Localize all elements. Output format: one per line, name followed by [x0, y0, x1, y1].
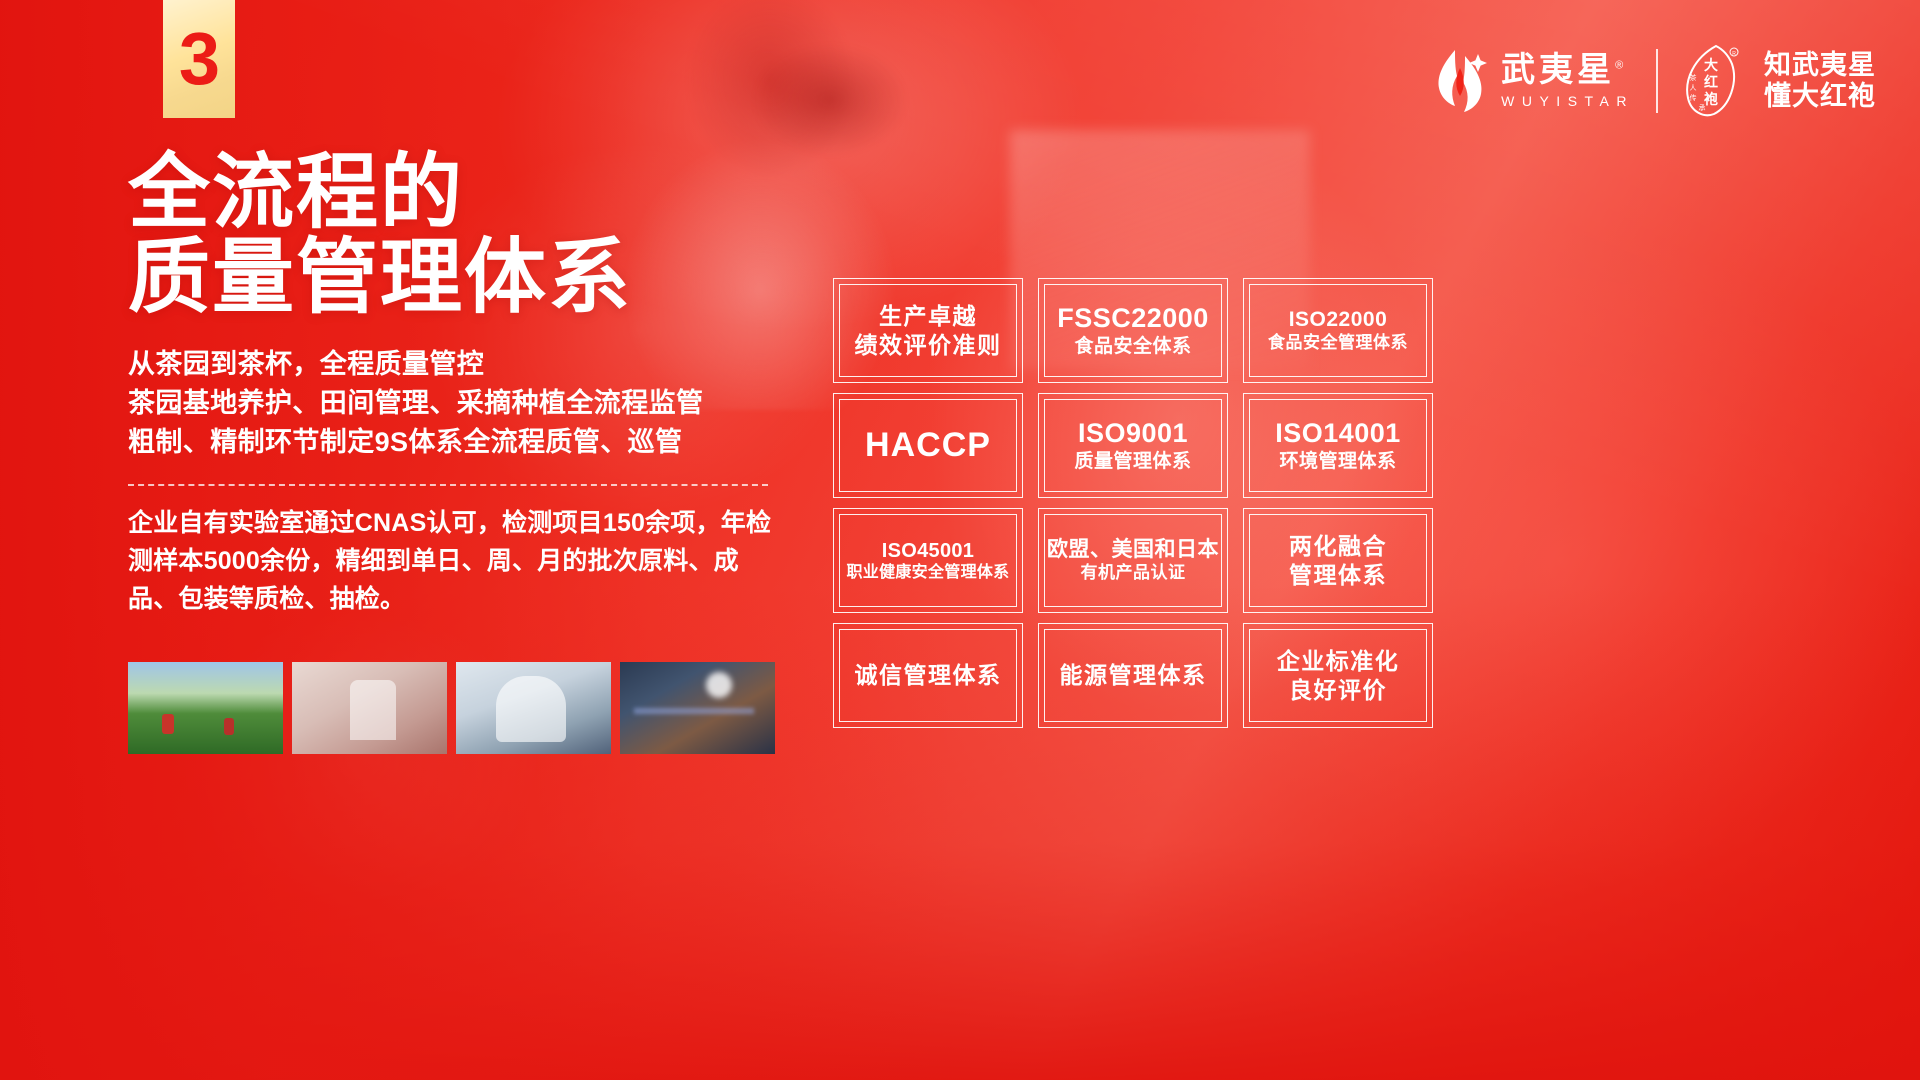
certification-subtitle: 良好评价: [1277, 676, 1400, 704]
brand-name-cn: 武夷星®: [1501, 53, 1627, 88]
section-number-badge: 3: [163, 0, 235, 118]
certification-card: 欧盟、美国和日本有机产品认证: [1038, 508, 1228, 613]
svg-text:R: R: [1732, 51, 1736, 57]
certification-card: ISO14001环境管理体系: [1243, 393, 1433, 498]
page-title: 全流程的 质量管理体系: [128, 150, 828, 321]
certification-subtitle: 绩效评价准则: [855, 331, 1002, 359]
registered-mark: ®: [1615, 60, 1627, 72]
svg-text:传: 传: [1690, 93, 1697, 102]
subtitle-block: 从茶园到茶杯，全程质量管控 茶园基地养护、田间管理、采摘种植全流程监管 粗制、精…: [128, 345, 828, 462]
certification-subtitle: 环境管理体系: [1275, 450, 1401, 473]
certification-title: ISO9001: [1074, 417, 1191, 450]
brand-lockup: 武夷星® WUYISTAR 大 红 袍 茶 人 传 承 R 知武夷星 懂大红袍: [1431, 42, 1876, 120]
certification-subtitle: 质量管理体系: [1074, 450, 1191, 473]
brand-primary-mark: 武夷星® WUYISTAR: [1431, 48, 1634, 114]
brand-name-en: WUYISTAR: [1501, 93, 1634, 109]
subtitle-line-1: 从茶园到茶杯，全程质量管控: [128, 345, 828, 384]
certification-card: 企业标准化良好评价: [1243, 623, 1433, 728]
certification-title: 生产卓越: [855, 302, 1002, 330]
certification-card: 两化融合管理体系: [1243, 508, 1433, 613]
lab-instrument-photo: [620, 662, 775, 754]
photo-strip: [128, 662, 775, 754]
brand-name-block: 武夷星® WUYISTAR: [1501, 53, 1634, 109]
certification-title: 两化融合: [1289, 532, 1387, 560]
certification-subtitle: 有机产品认证: [1047, 563, 1219, 584]
page-title-line-1: 全流程的: [128, 147, 464, 238]
svg-text:人: 人: [1690, 84, 1697, 92]
certification-subtitle: 食品安全体系: [1057, 335, 1209, 358]
tea-garden-harvest-photo: [128, 662, 283, 754]
svg-text:红: 红: [1704, 74, 1718, 90]
certification-subtitle: 职业健康安全管理体系: [846, 563, 1009, 583]
certification-grid: 生产卓越绩效评价准则 FSSC22000食品安全体系 ISO22000食品安全管…: [833, 278, 1433, 728]
certification-card: 能源管理体系: [1038, 623, 1228, 728]
certification-title: FSSC22000: [1057, 302, 1209, 335]
certification-subtitle: 管理体系: [1289, 561, 1387, 589]
certification-title: HACCP: [865, 425, 991, 466]
dashed-divider: [128, 484, 768, 486]
left-content-column: 全流程的 质量管理体系 从茶园到茶杯，全程质量管控 茶园基地养护、田间管理、采摘…: [128, 150, 828, 618]
brand-divider: [1656, 49, 1658, 113]
certification-title: ISO22000: [1268, 307, 1408, 333]
body-paragraph: 企业自有实验室通过CNAS认可，检测项目150余项，年检测样本5000余份，精细…: [128, 504, 776, 618]
certification-card: 诚信管理体系: [833, 623, 1023, 728]
subtitle-line-2: 茶园基地养护、田间管理、采摘种植全流程监管: [128, 384, 828, 423]
svg-text:承: 承: [1699, 103, 1706, 112]
certification-card: 生产卓越绩效评价准则: [833, 278, 1023, 383]
brand-slogan-line-2: 懂大红袍: [1764, 81, 1876, 112]
lab-record-writing-photo: [292, 662, 447, 754]
certification-card: ISO45001职业健康安全管理体系: [833, 508, 1023, 613]
svg-text:大: 大: [1704, 57, 1718, 73]
certification-subtitle: 食品安全管理体系: [1268, 333, 1408, 354]
brand-slogan-line-1: 知武夷星: [1764, 50, 1876, 81]
brand-slogan: 知武夷星 懂大红袍: [1764, 50, 1876, 112]
certification-title: 能源管理体系: [1060, 661, 1207, 689]
lab-microscope-photo: [456, 662, 611, 754]
certification-title: 欧盟、美国和日本: [1047, 537, 1219, 563]
certification-card: FSSC22000食品安全体系: [1038, 278, 1228, 383]
certification-title: ISO14001: [1275, 417, 1401, 450]
certification-card: ISO22000食品安全管理体系: [1243, 278, 1433, 383]
section-number: 3: [179, 22, 219, 96]
certification-title: 诚信管理体系: [855, 661, 1002, 689]
page-title-line-2: 质量管理体系: [128, 235, 828, 320]
certification-card: HACCP: [833, 393, 1023, 498]
dahongpao-leaf-seal-icon: 大 红 袍 茶 人 传 承 R: [1680, 44, 1742, 118]
slide-canvas: 3 武夷星® WUYISTAR 大 红 袍: [0, 0, 1920, 1080]
subtitle-line-3: 粗制、精制环节制定9S体系全流程质管、巡管: [128, 423, 828, 462]
certification-card: ISO9001质量管理体系: [1038, 393, 1228, 498]
certification-title: 企业标准化: [1277, 647, 1400, 675]
certification-title: ISO45001: [846, 539, 1009, 563]
svg-text:茶: 茶: [1690, 73, 1697, 82]
flame-leaf-icon: [1431, 48, 1489, 114]
